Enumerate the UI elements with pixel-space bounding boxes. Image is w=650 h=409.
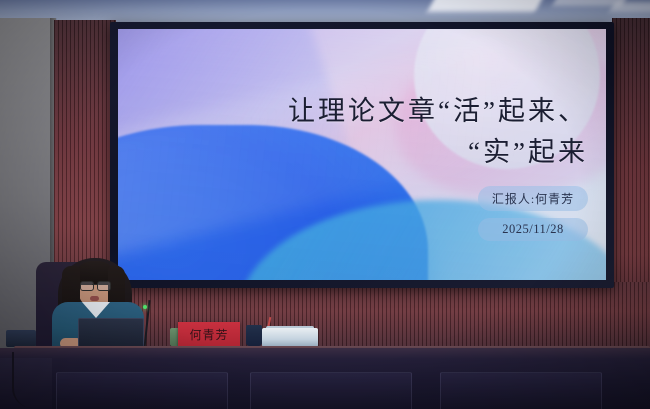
- conference-room-scene: 让理论文章“活”起来、 “实”起来 汇报人:何青芳 2025/11/28 何青芳: [0, 0, 650, 409]
- name-placard: 何青芳: [178, 322, 240, 346]
- glasses-lens-right: [97, 281, 111, 291]
- name-placard-text: 何青芳: [189, 326, 228, 343]
- podium-panel: [56, 372, 228, 409]
- desk-object-left: [6, 330, 36, 347]
- mic-status-led: [143, 305, 147, 309]
- dark-cup: [246, 325, 262, 346]
- tissue-box: [262, 328, 318, 347]
- cable: [12, 352, 44, 408]
- podium-panel: [250, 372, 412, 409]
- podium-panel: [440, 372, 602, 409]
- glasses-icon: [80, 281, 111, 289]
- mouth: [90, 296, 99, 301]
- glasses-lens-left: [80, 281, 94, 291]
